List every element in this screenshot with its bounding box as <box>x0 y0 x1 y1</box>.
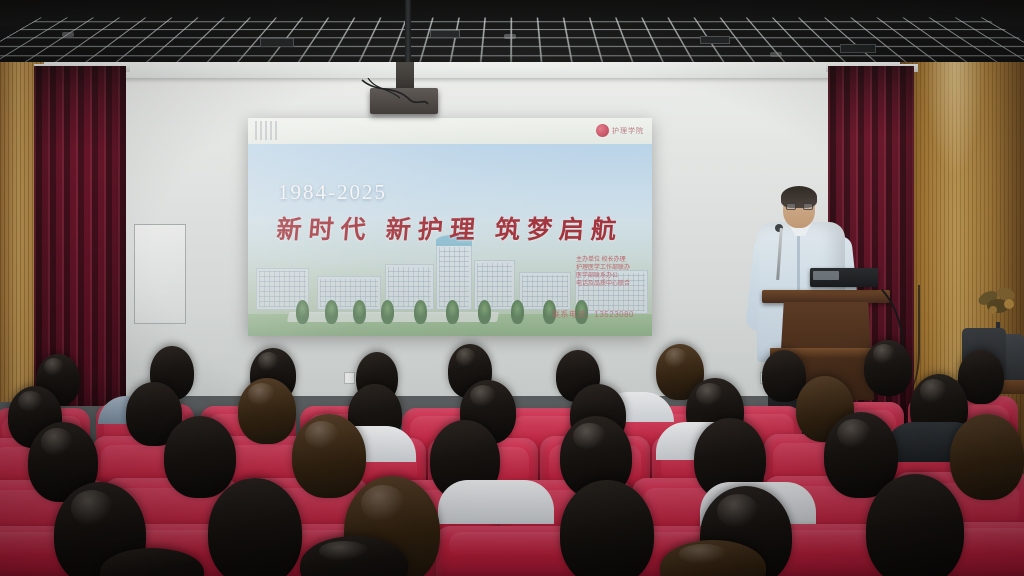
projector-cable <box>360 78 430 108</box>
slide-title: 新时代 新护理 筑梦启航 <box>248 210 652 246</box>
audience-head <box>950 414 1024 500</box>
institution-logo: 护理学院 <box>596 124 644 137</box>
audience-area <box>0 330 1024 576</box>
laptop-lid <box>810 268 878 287</box>
decorative-bars-icon <box>255 121 279 140</box>
projection-screen: 护理学院 <box>248 118 652 336</box>
audience-head <box>208 478 302 576</box>
slide-years: 1984-2025 <box>278 180 387 205</box>
slide-phone-line: 联系电话：13523080 <box>552 309 634 320</box>
slide-credits: 主办单位 校长办理 护理医学工作部联办 医学部联系办公 电话及品质中心联合 <box>576 256 630 288</box>
logo-mark-icon <box>596 124 609 137</box>
laptop <box>810 268 878 292</box>
credit-line: 电话及品质中心联合 <box>576 280 630 288</box>
slide-body: 1984-2025 新时代 新护理 筑梦启航 主办单位 校长办理 护理医学工作部… <box>248 144 652 336</box>
credit-line: 主办单位 校长办理 <box>576 256 630 264</box>
audience-shoulders <box>438 480 554 524</box>
campus-tree <box>478 300 491 324</box>
campus-tree <box>325 300 338 324</box>
whiteboard-panel <box>134 224 186 324</box>
laptop-screen <box>813 271 839 280</box>
potted-plant <box>976 280 1024 328</box>
credit-line: 医学部联系办公 <box>576 272 630 280</box>
credit-line: 护理医学工作部联办 <box>576 264 630 272</box>
glasses-icon <box>786 203 813 210</box>
audience-head <box>864 340 912 396</box>
logo-text: 护理学院 <box>612 126 644 136</box>
plant-leaves-icon <box>976 280 1024 328</box>
campus-tree <box>381 300 394 324</box>
campus-tree <box>511 300 524 324</box>
campus-tree <box>296 300 309 324</box>
audience-head <box>164 416 236 498</box>
campus-tree <box>414 300 427 324</box>
audience-head <box>866 474 964 576</box>
auditorium-scene: 护理学院 <box>0 0 1024 576</box>
audience-head <box>238 378 296 444</box>
audience-head <box>560 480 654 576</box>
projector-pole <box>405 0 411 62</box>
audience-head <box>292 414 366 498</box>
slide-header-band: 护理学院 <box>248 118 652 144</box>
campus-building <box>385 264 433 310</box>
campus-tree <box>446 300 459 324</box>
campus-tree <box>353 300 366 324</box>
